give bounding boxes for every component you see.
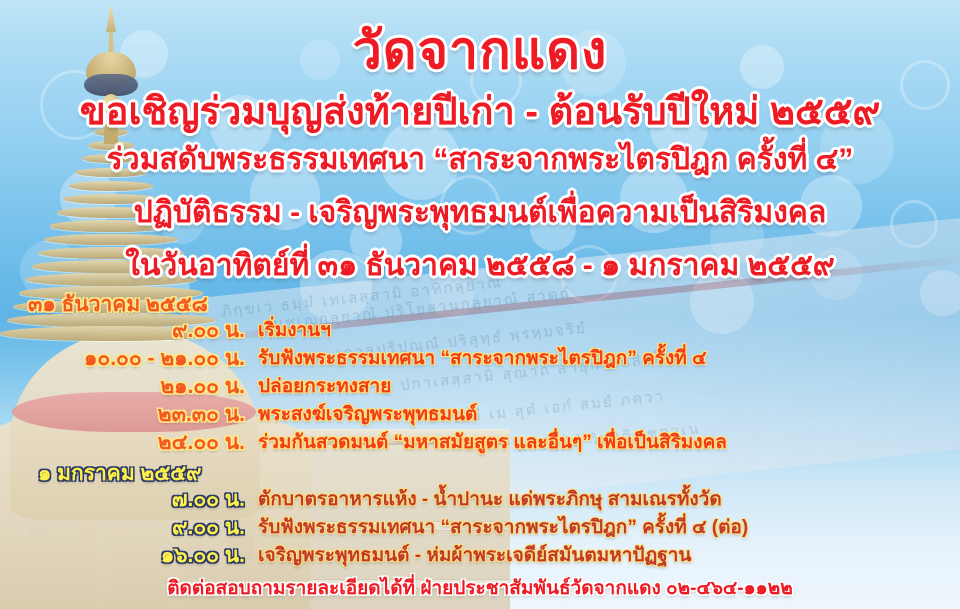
contact-line: ติดต่อสอบถามรายละเอียดได้ที่ ฝ่ายประชาสั… <box>0 573 960 603</box>
schedule-description: พระสงฆ์เจริญพระพุทธมนต์ <box>258 399 477 429</box>
schedule-description: รับฟังพระธรรมเทศนา “สาระจากพระไตรปิฎก” ค… <box>258 512 748 542</box>
schedule-time: ๑๖.๐๐ น. <box>5 539 245 572</box>
schedule-description: ตักบาตรอาหารแห้ง - น้ำปานะ แด่พระภิกษุ ส… <box>258 484 722 514</box>
schedule-time: ๒๔.๐๐ น. <box>5 426 245 459</box>
schedule-description: รับฟังพระธรรมเทศนา “สาระจากพระไตรปิฎก” ค… <box>258 343 706 373</box>
schedule-description: เริ่มงานฯ <box>258 315 331 345</box>
schedule-description: เจริญพระพุทธมนต์ - ห่มผ้าพระเจดีย์สมันตม… <box>258 540 691 570</box>
poster-canvas: ภิกฺขเว ธมฺมํ เทเสสฺสามิ อาทิกลฺยาณํ มชฺ… <box>0 0 960 609</box>
schedule-layer: ๓๑ ธันวาคม ๒๕๕๘๙.๐๐ น.เริ่มงานฯ๑๐.๐๐ - ๒… <box>0 0 960 609</box>
schedule-description: ปล่อยกระทงสาย <box>258 371 391 401</box>
schedule-description: ร่วมกันสวดมนต์ “มหาสมัยสูตร และอื่นๆ” เพ… <box>258 427 727 457</box>
